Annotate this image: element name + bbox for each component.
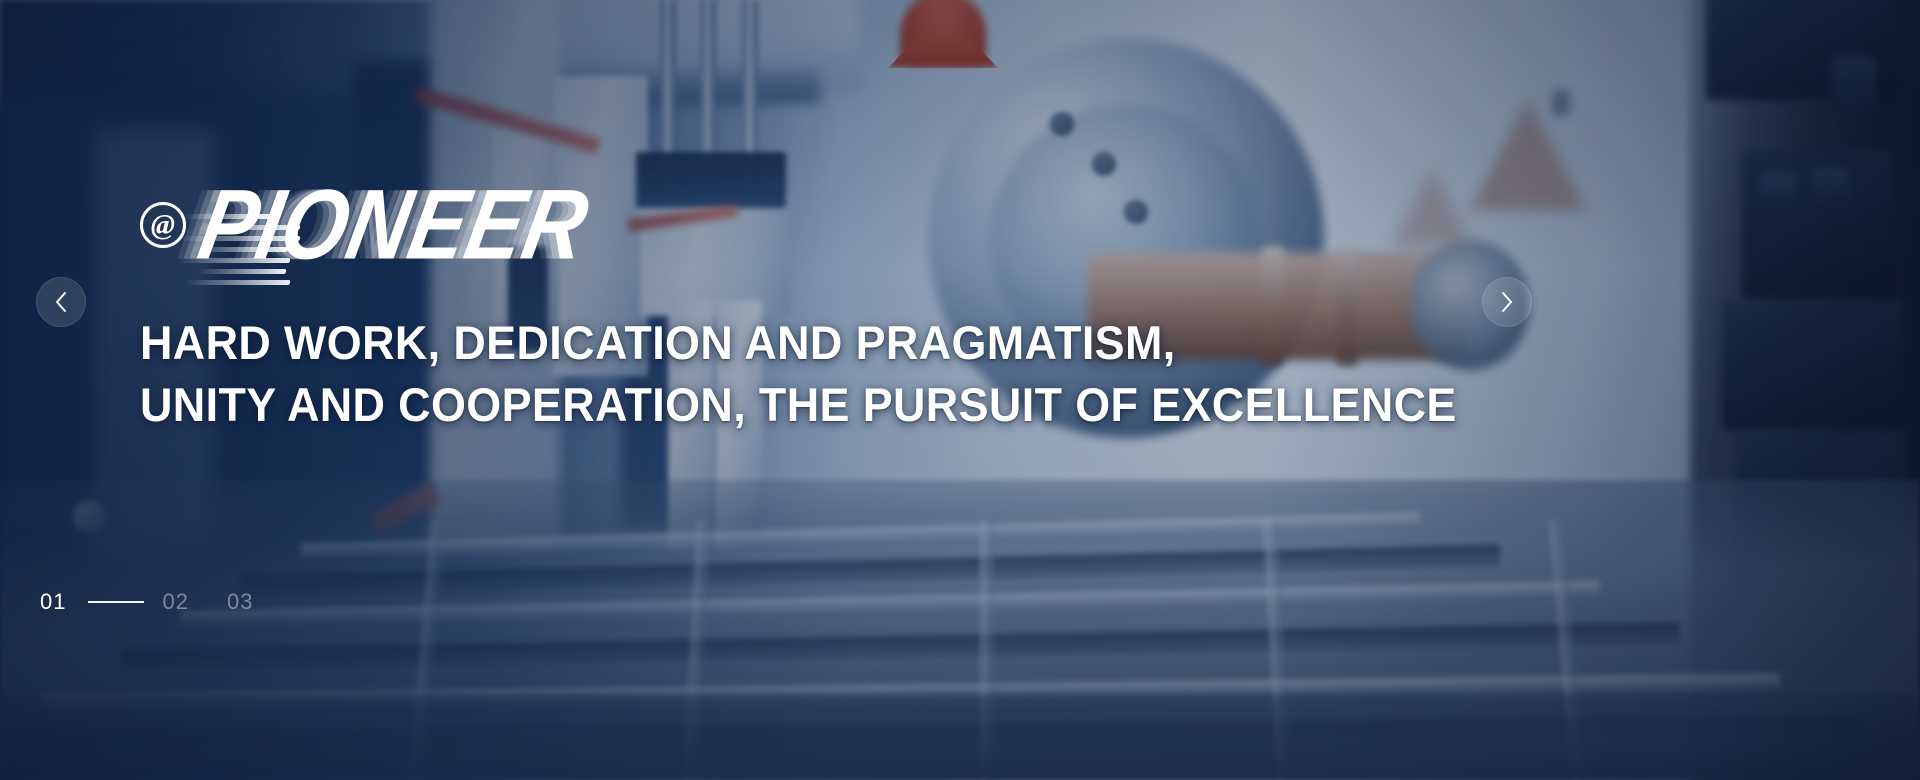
- page-title: HARD WORK, DEDICATION AND PRAGMATISM, UN…: [140, 312, 1560, 436]
- pagination-item-01[interactable]: 01: [40, 589, 66, 615]
- at-symbol-icon: @: [140, 202, 186, 248]
- pagination-item-03[interactable]: 03: [227, 589, 253, 615]
- slide-pagination: 01 02 03: [40, 589, 253, 615]
- headline-line-2: UNITY AND COOPERATION, THE PURSUIT OF EX…: [140, 374, 1496, 436]
- chevron-left-icon: [53, 290, 69, 314]
- hero-content: @ PIONEER HARD WORK, DEDICATION AND PRAG…: [140, 196, 1560, 436]
- brand-wordmark: PIONEER: [192, 175, 596, 274]
- headline-line-1: HARD WORK, DEDICATION AND PRAGMATISM,: [140, 312, 1496, 374]
- chevron-right-icon: [1499, 290, 1515, 314]
- pagination-progress-line: [88, 601, 144, 603]
- pagination-item-02[interactable]: 02: [162, 589, 188, 615]
- brand-logo: @ PIONEER: [140, 196, 1560, 300]
- previous-slide-button[interactable]: [36, 277, 86, 327]
- speed-streak: [186, 280, 291, 285]
- hero-banner: @ PIONEER HARD WORK, DEDICATION AND PRAG…: [0, 0, 1920, 780]
- next-slide-button[interactable]: [1482, 277, 1532, 327]
